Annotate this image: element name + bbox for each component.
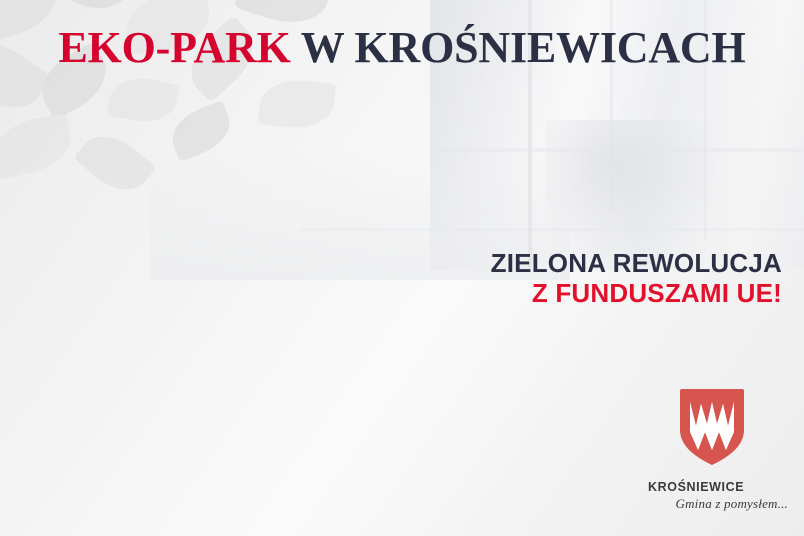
title-part-red: EKO-PARK [58, 23, 290, 72]
poster: EKO-PARK W KROŚNIEWICACH ZIELONA REWOLUC… [0, 0, 804, 536]
poster-title: EKO-PARK W KROŚNIEWICACH [0, 24, 804, 72]
poster-subtitle: ZIELONA REWOLUCJA Z FUNDUSZAMI UE! [491, 248, 782, 308]
coat-of-arms-shield [677, 388, 747, 466]
subtitle-line-1: ZIELONA REWOLUCJA [491, 248, 782, 278]
logo-town-name: KROŚNIEWICE [648, 480, 788, 494]
krosniewice-logo: KROŚNIEWICE Gmina z pomysłem... [648, 388, 788, 512]
logo-motto: Gmina z pomysłem... [648, 496, 788, 512]
title-part-navy: W KROŚNIEWICACH [291, 23, 746, 72]
subtitle-line-2: Z FUNDUSZAMI UE! [491, 278, 782, 308]
